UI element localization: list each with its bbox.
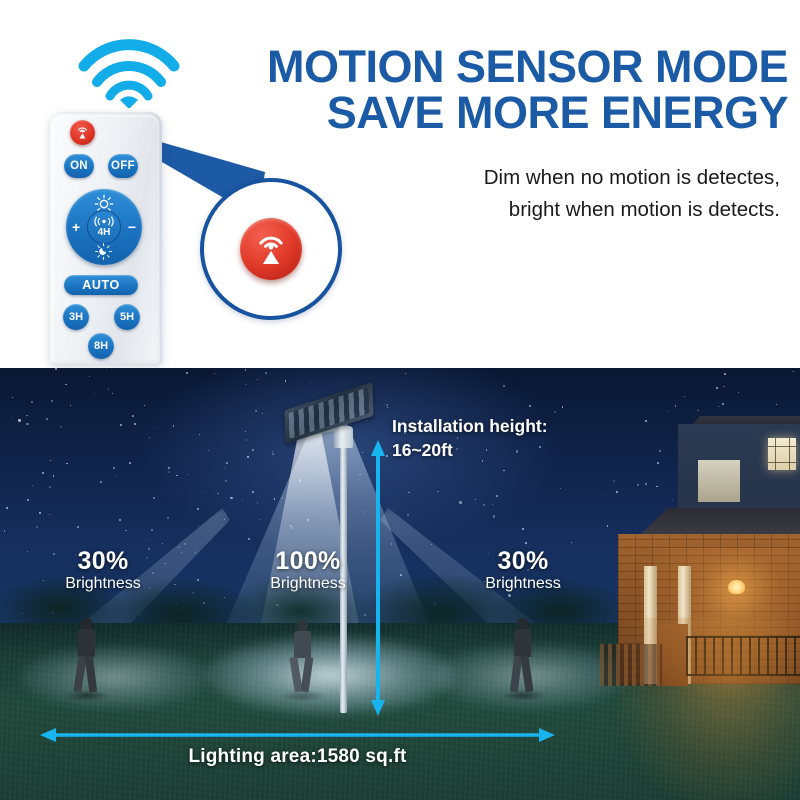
installation-height-line-2: 16~20ft bbox=[392, 438, 632, 462]
lighting-area-label: Lighting area:1580 sq.ft bbox=[40, 746, 555, 768]
timer-8h-button[interactable]: 8H bbox=[88, 333, 114, 359]
light-pool-center bbox=[205, 636, 455, 714]
brightness-zone-left: 30% Brightness bbox=[28, 548, 178, 594]
light-pool-left bbox=[20, 646, 210, 708]
wifi-icon bbox=[78, 30, 190, 108]
installation-height-label: Installation height: 16~20ft bbox=[392, 414, 632, 462]
brightness-caption: Brightness bbox=[448, 574, 598, 594]
subtitle-text: Dim when no motion is detectes, bright w… bbox=[370, 162, 780, 226]
brightness-caption: Brightness bbox=[28, 574, 178, 594]
dormer-window bbox=[698, 460, 740, 502]
subtitle-line-1: Dim when no motion is detectes, bbox=[370, 162, 780, 194]
lighting-area-arrow bbox=[40, 726, 555, 744]
brightness-percent: 30% bbox=[28, 548, 178, 574]
headline-line-1: MOTION SENSOR MODE bbox=[267, 41, 788, 92]
brightness-dial[interactable]: + − 4H bbox=[66, 189, 142, 265]
brightness-zone-right: 30% Brightness bbox=[448, 548, 598, 594]
timer-3h-button[interactable]: 3H bbox=[63, 304, 89, 330]
brightness-zone-center: 100% Brightness bbox=[228, 548, 388, 594]
subtitle-line-2: bright when motion is detects. bbox=[370, 194, 780, 226]
power-on-button[interactable]: ON bbox=[64, 154, 94, 178]
motion-sensor-icon bbox=[250, 228, 292, 270]
warm-ground-glow bbox=[620, 618, 800, 800]
timer-5h-button[interactable]: 5H bbox=[114, 304, 140, 330]
sensor-mode-button[interactable] bbox=[70, 120, 95, 145]
promo-graphic: MOTION SENSOR MODE SAVE MORE ENERGY Dim … bbox=[0, 0, 800, 800]
brightness-increase-label[interactable]: + bbox=[72, 220, 80, 234]
power-off-button[interactable]: OFF bbox=[108, 154, 138, 178]
top-info-panel: MOTION SENSOR MODE SAVE MORE ENERGY Dim … bbox=[0, 0, 800, 368]
brightness-percent: 30% bbox=[448, 548, 598, 574]
motion-wave-icon bbox=[94, 216, 114, 227]
installation-height-line-1: Installation height: bbox=[392, 414, 632, 438]
brightness-caption: Brightness bbox=[228, 574, 388, 594]
upper-window bbox=[768, 438, 796, 470]
magnified-sensor-button bbox=[200, 178, 342, 320]
porch-lamp bbox=[728, 580, 745, 594]
motion-sensor-icon bbox=[74, 124, 91, 141]
auto-mode-button[interactable]: AUTO bbox=[64, 275, 138, 295]
timer-4h-button[interactable]: 4H bbox=[87, 210, 121, 244]
remote-control[interactable]: ON OFF + − bbox=[50, 112, 162, 364]
moon-dim-icon bbox=[94, 242, 113, 261]
brightness-decrease-label[interactable]: − bbox=[128, 220, 136, 234]
timer-4h-label: 4H bbox=[98, 228, 111, 238]
night-scene-photo: Installation height: 16~20ft 30% Brightn… bbox=[0, 368, 800, 800]
magnified-red-button bbox=[240, 218, 302, 280]
brightness-percent: 100% bbox=[228, 548, 388, 574]
